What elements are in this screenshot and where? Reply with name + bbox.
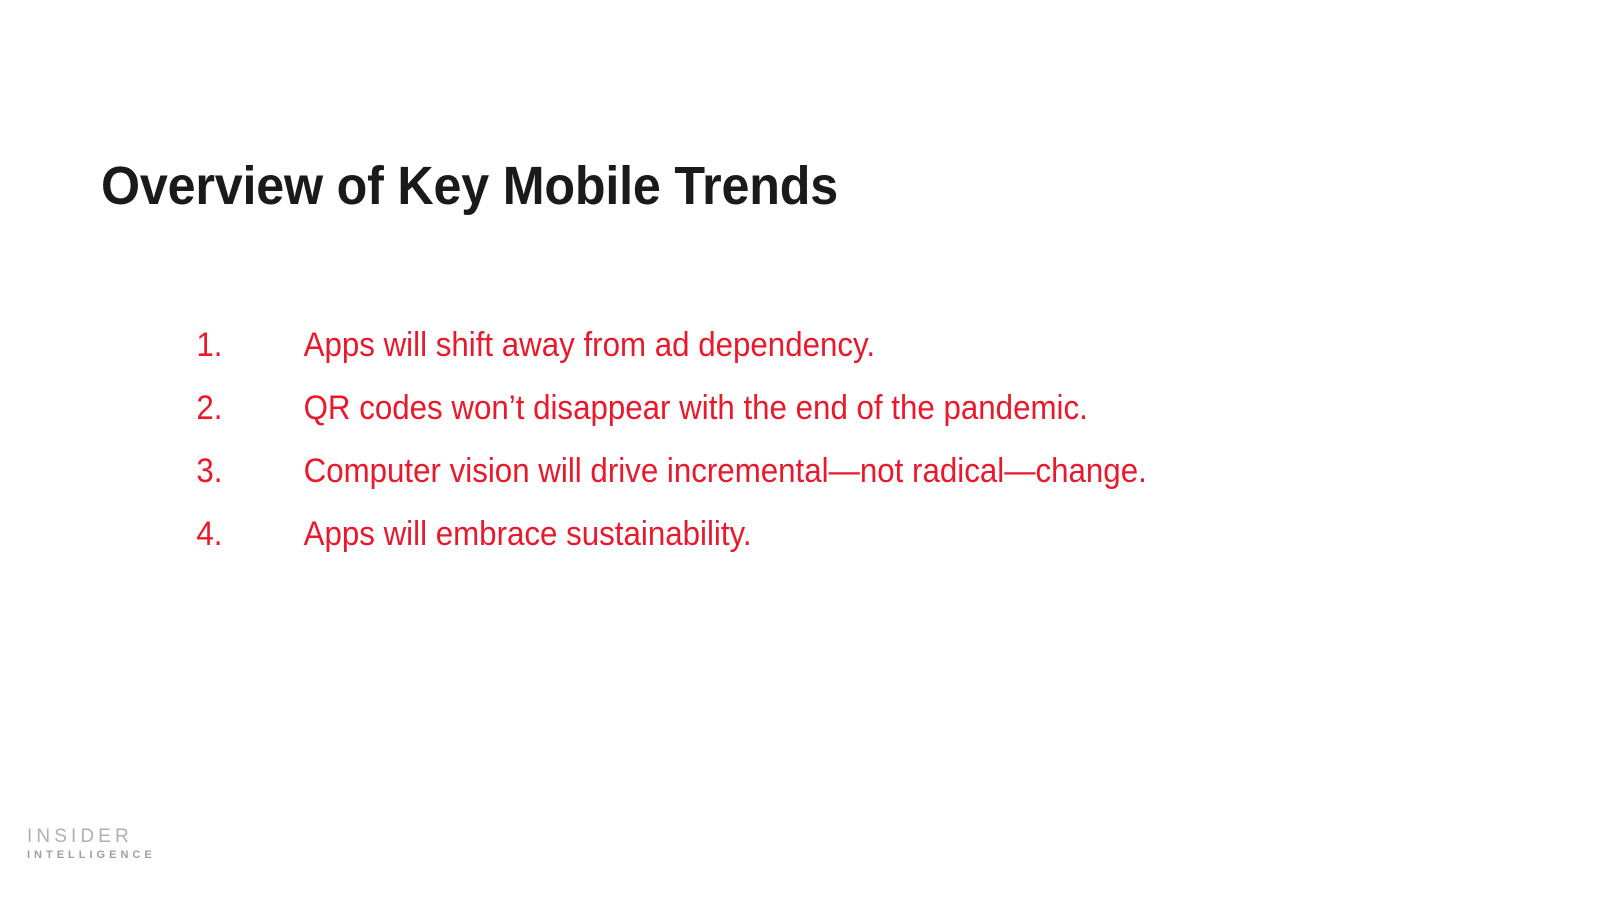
insider-intelligence-logo: INSIDER INTELLIGENCE [27, 826, 267, 862]
list-item-label: Apps will embrace sustainability. [304, 514, 1445, 554]
list-item: 2. QR codes won’t disappear with the end… [194, 388, 1494, 451]
logo-primary-text: INSIDER [27, 826, 267, 848]
key-trends-list: 1. Apps will shift away from ad dependen… [194, 325, 1494, 577]
list-item: 4. Apps will embrace sustainability. [194, 514, 1494, 577]
list-item-label: Computer vision will drive incremental—n… [304, 451, 1445, 491]
list-item-marker: 2. [196, 388, 251, 428]
logo-secondary-text: INTELLIGENCE [27, 849, 267, 862]
list-item-label: Apps will shift away from ad dependency. [304, 325, 1445, 365]
page-title: Overview of Key Mobile Trends [101, 153, 1403, 219]
slide-canvas: Overview of Key Mobile Trends 1. Apps wi… [0, 0, 1600, 900]
list-item-marker: 1. [196, 325, 251, 365]
list-item-marker: 3. [196, 451, 251, 491]
list-item: 1. Apps will shift away from ad dependen… [194, 325, 1494, 388]
list-item-label: QR codes won’t disappear with the end of… [304, 388, 1445, 428]
list-item: 3. Computer vision will drive incrementa… [194, 451, 1494, 514]
list-item-marker: 4. [196, 514, 251, 554]
